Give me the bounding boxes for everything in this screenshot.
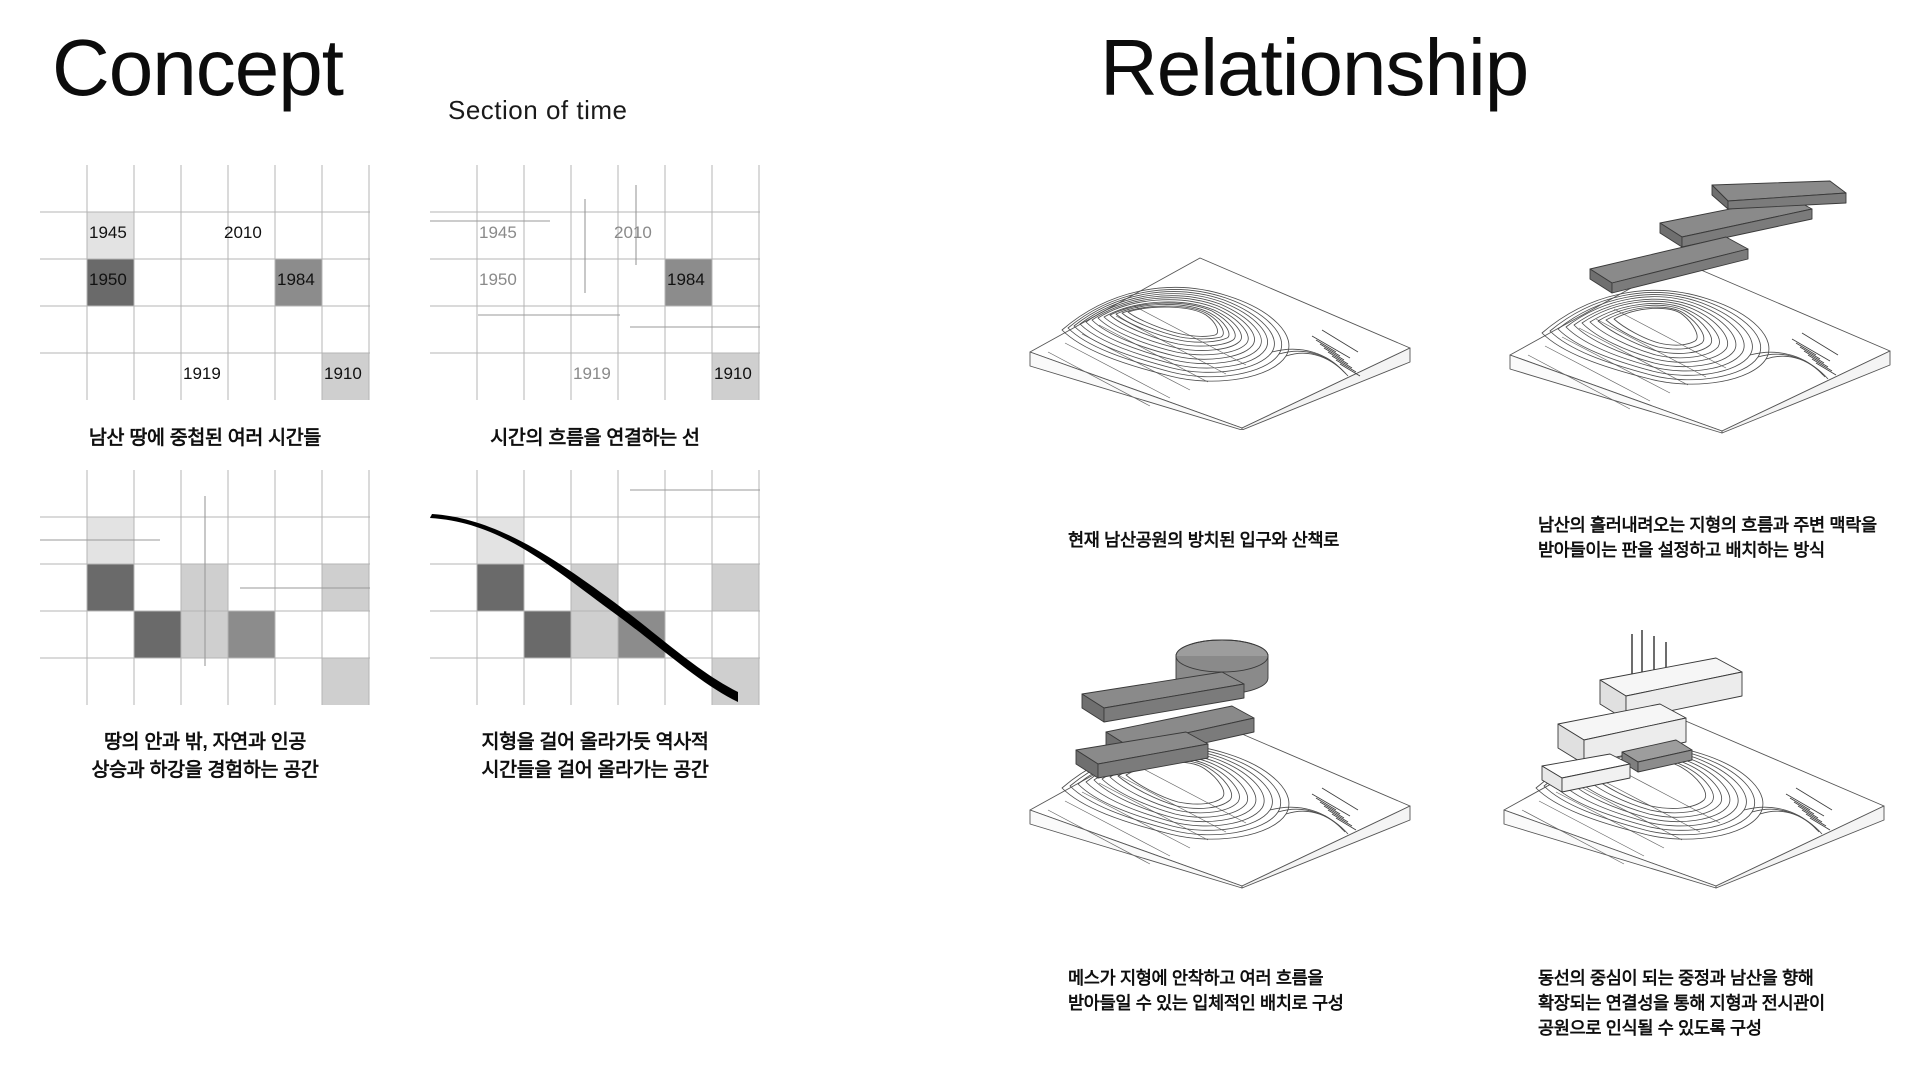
year-label-1984: 1984 xyxy=(667,270,705,290)
terrain-model-3 xyxy=(1010,620,1430,890)
relationship-model-mass-settlement xyxy=(1010,620,1430,890)
year-label-1945: 1945 xyxy=(479,223,517,243)
caption-plates-placement: 남산의 흘러내려오는 지형의 흐름과 주변 맥락을 받아들이는 판을 설정하고 … xyxy=(1538,513,1920,563)
year-label-1910: 1910 xyxy=(324,364,362,384)
concept-diagram-overlapped-times: 1945 2010 1950 1984 1919 1910 xyxy=(40,165,370,400)
subtitle-section-of-time: Section of time xyxy=(448,95,627,126)
year-label-1919: 1919 xyxy=(183,364,221,384)
grid-cell-shaded xyxy=(322,658,369,705)
grid-cell-shaded xyxy=(228,611,275,658)
terrain-model-2 xyxy=(1490,175,1910,435)
time-grid-3 xyxy=(40,470,370,705)
caption-courtyard-connection: 동선의 중심이 되는 중정과 남산을 향해 확장되는 연결성을 통해 지형과 전… xyxy=(1538,966,1920,1041)
concept-diagram-lines-connecting-time: 1945 2010 1950 1984 1919 1910 xyxy=(430,165,760,400)
grid-cell-shaded xyxy=(524,611,571,658)
grid-cell-shaded xyxy=(571,611,618,658)
page-title-relationship: Relationship xyxy=(1100,28,1528,108)
concept-diagram-inside-outside-ground xyxy=(40,470,370,705)
mass-plates xyxy=(1590,181,1846,293)
grid-cell-shaded xyxy=(87,564,134,611)
grid-cell-shaded xyxy=(134,611,181,658)
caption-lines-connecting-time: 시간의 흐름을 연결하는 선 xyxy=(430,424,760,452)
terrain-model-1 xyxy=(1010,180,1430,430)
caption-walking-up-history: 지형을 걸어 올라가듯 역사적 시간들을 걸어 올라가는 공간 xyxy=(430,728,760,785)
caption-mass-settlement: 메스가 지형에 안착하고 여러 흐름을 받아들일 수 있는 입체적인 배치로 구… xyxy=(1068,966,1468,1016)
year-label-1950: 1950 xyxy=(479,270,517,290)
year-label-1950: 1950 xyxy=(89,270,127,290)
relationship-model-existing-site xyxy=(1010,180,1430,430)
caption-overlapped-times: 남산 땅에 중첩된 여러 시간들 xyxy=(40,424,370,452)
year-label-2010: 2010 xyxy=(614,223,652,243)
grid-cell-shaded xyxy=(477,564,524,611)
relationship-model-courtyard-connection xyxy=(1480,620,1910,890)
presentation-board: Concept Section of time Relationship xyxy=(0,0,1920,1080)
year-label-1910: 1910 xyxy=(714,364,752,384)
year-label-1919: 1919 xyxy=(573,364,611,384)
time-grid-4 xyxy=(430,470,760,705)
year-label-1984: 1984 xyxy=(277,270,315,290)
terrain-model-4 xyxy=(1480,620,1910,890)
grid-cell-shaded xyxy=(712,564,759,611)
concept-diagram-walking-up-history xyxy=(430,470,760,705)
caption-inside-outside-ground: 땅의 안과 밖, 자연과 인공 상승과 하강을 경험하는 공간 xyxy=(40,728,370,785)
year-label-1945: 1945 xyxy=(89,223,127,243)
page-title-concept: Concept xyxy=(52,28,343,108)
caption-existing-site: 현재 남산공원의 방치된 입구와 산책로 xyxy=(1068,528,1448,553)
relationship-model-plates-placement xyxy=(1490,175,1910,435)
year-label-2010: 2010 xyxy=(224,223,262,243)
